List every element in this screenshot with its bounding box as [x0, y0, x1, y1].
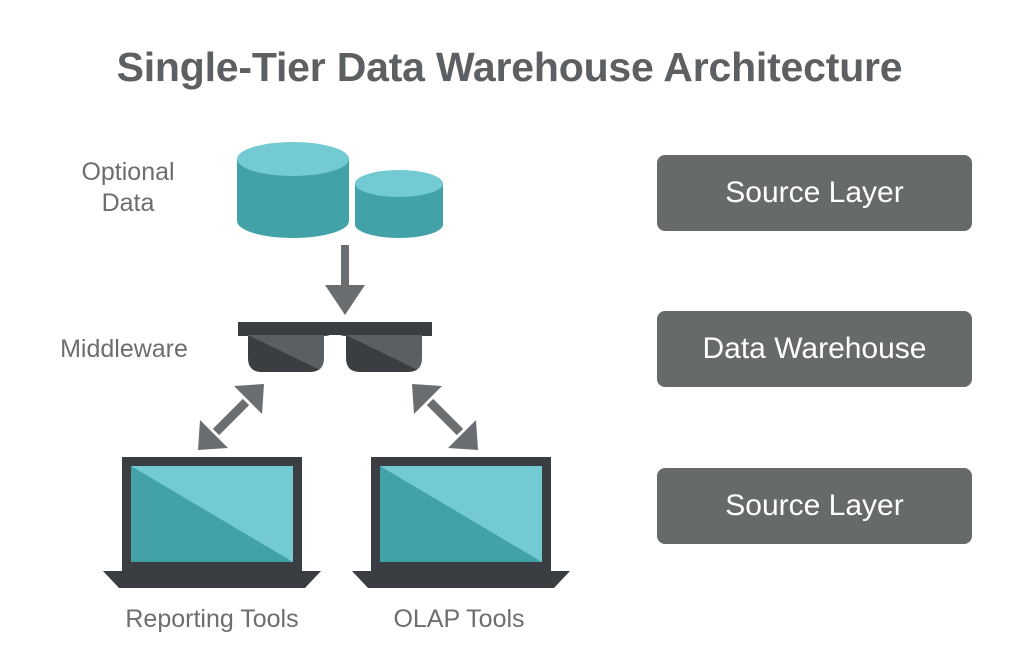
label-optional-data-line1: Optional: [28, 157, 228, 188]
glasses-icon: [238, 322, 432, 378]
database-cylinder-small-icon: [355, 170, 443, 238]
double-arrow-diagonal-icon: [196, 382, 266, 452]
label-optional-data-line2: Data: [28, 188, 228, 219]
page-title: Single-Tier Data Warehouse Architecture: [0, 44, 1019, 91]
label-optional-data: Optional Data: [28, 157, 228, 219]
double-arrow-diagonal-icon: [410, 382, 480, 452]
label-middleware: Middleware: [20, 334, 228, 365]
diagram-canvas: Single-Tier Data Warehouse Architecture …: [0, 0, 1019, 656]
layer-box-source-layer-top: Source Layer: [657, 155, 972, 231]
label-reporting-tools: Reporting Tools: [102, 605, 322, 634]
layer-box-source-layer-bottom: Source Layer: [657, 468, 972, 544]
layer-box-data-warehouse: Data Warehouse: [657, 311, 972, 387]
laptop-icon-olap: [352, 457, 570, 588]
database-cylinder-large-icon: [237, 142, 349, 238]
cylinder-top-ellipse: [237, 142, 349, 176]
cylinder-top-ellipse: [355, 170, 443, 197]
arrow-down-icon: [322, 245, 368, 317]
laptop-icon-reporting: [103, 457, 321, 588]
label-olap-tools: OLAP Tools: [352, 605, 566, 634]
